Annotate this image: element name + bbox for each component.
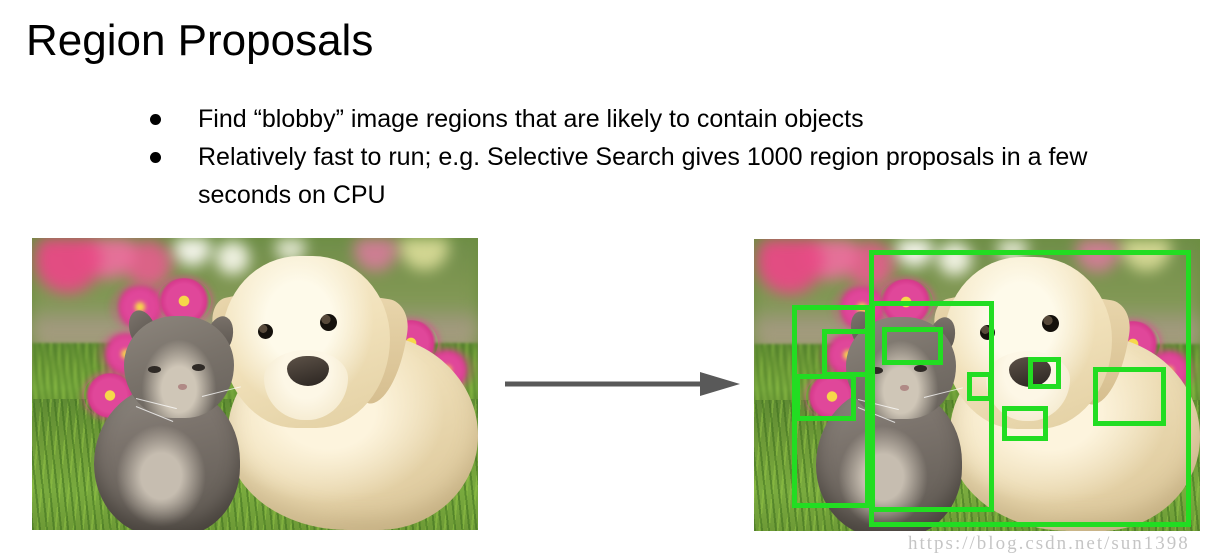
watermark-text: https://blog.csdn.net/sun1398 <box>908 533 1190 555</box>
list-item: Relatively fast to run; e.g. Selective S… <box>140 138 1100 214</box>
arrow-right-icon <box>500 368 745 405</box>
bullet-dot-icon <box>150 114 161 125</box>
list-item-label: Find “blobby” image regions that are lik… <box>198 105 864 133</box>
box-kitten-face <box>882 327 943 365</box>
kitten-nose <box>178 384 187 390</box>
kitten-eye-left <box>148 366 161 373</box>
box-cheek-right <box>1028 357 1061 389</box>
box-chin <box>1002 406 1048 441</box>
box-flank-right <box>1093 367 1166 426</box>
region-proposal-image <box>754 239 1200 531</box>
box-flower-upper <box>822 329 873 377</box>
kitten-eye-right <box>192 364 205 371</box>
box-flower-lower <box>795 374 856 421</box>
page-title: Region Proposals <box>26 14 373 68</box>
bullet-dot-icon <box>150 152 161 163</box>
kitten-head <box>124 316 234 418</box>
bullet-list: Find “blobby” image regions that are lik… <box>140 100 1100 214</box>
list-item: Find “blobby” image regions that are lik… <box>140 100 1100 138</box>
input-image <box>32 238 478 530</box>
list-item-label: Relatively fast to run; e.g. Selective S… <box>198 143 1087 209</box>
puppy-eye-right <box>320 314 337 331</box>
box-nose-left <box>967 372 993 401</box>
puppy-eye-left <box>258 324 273 339</box>
